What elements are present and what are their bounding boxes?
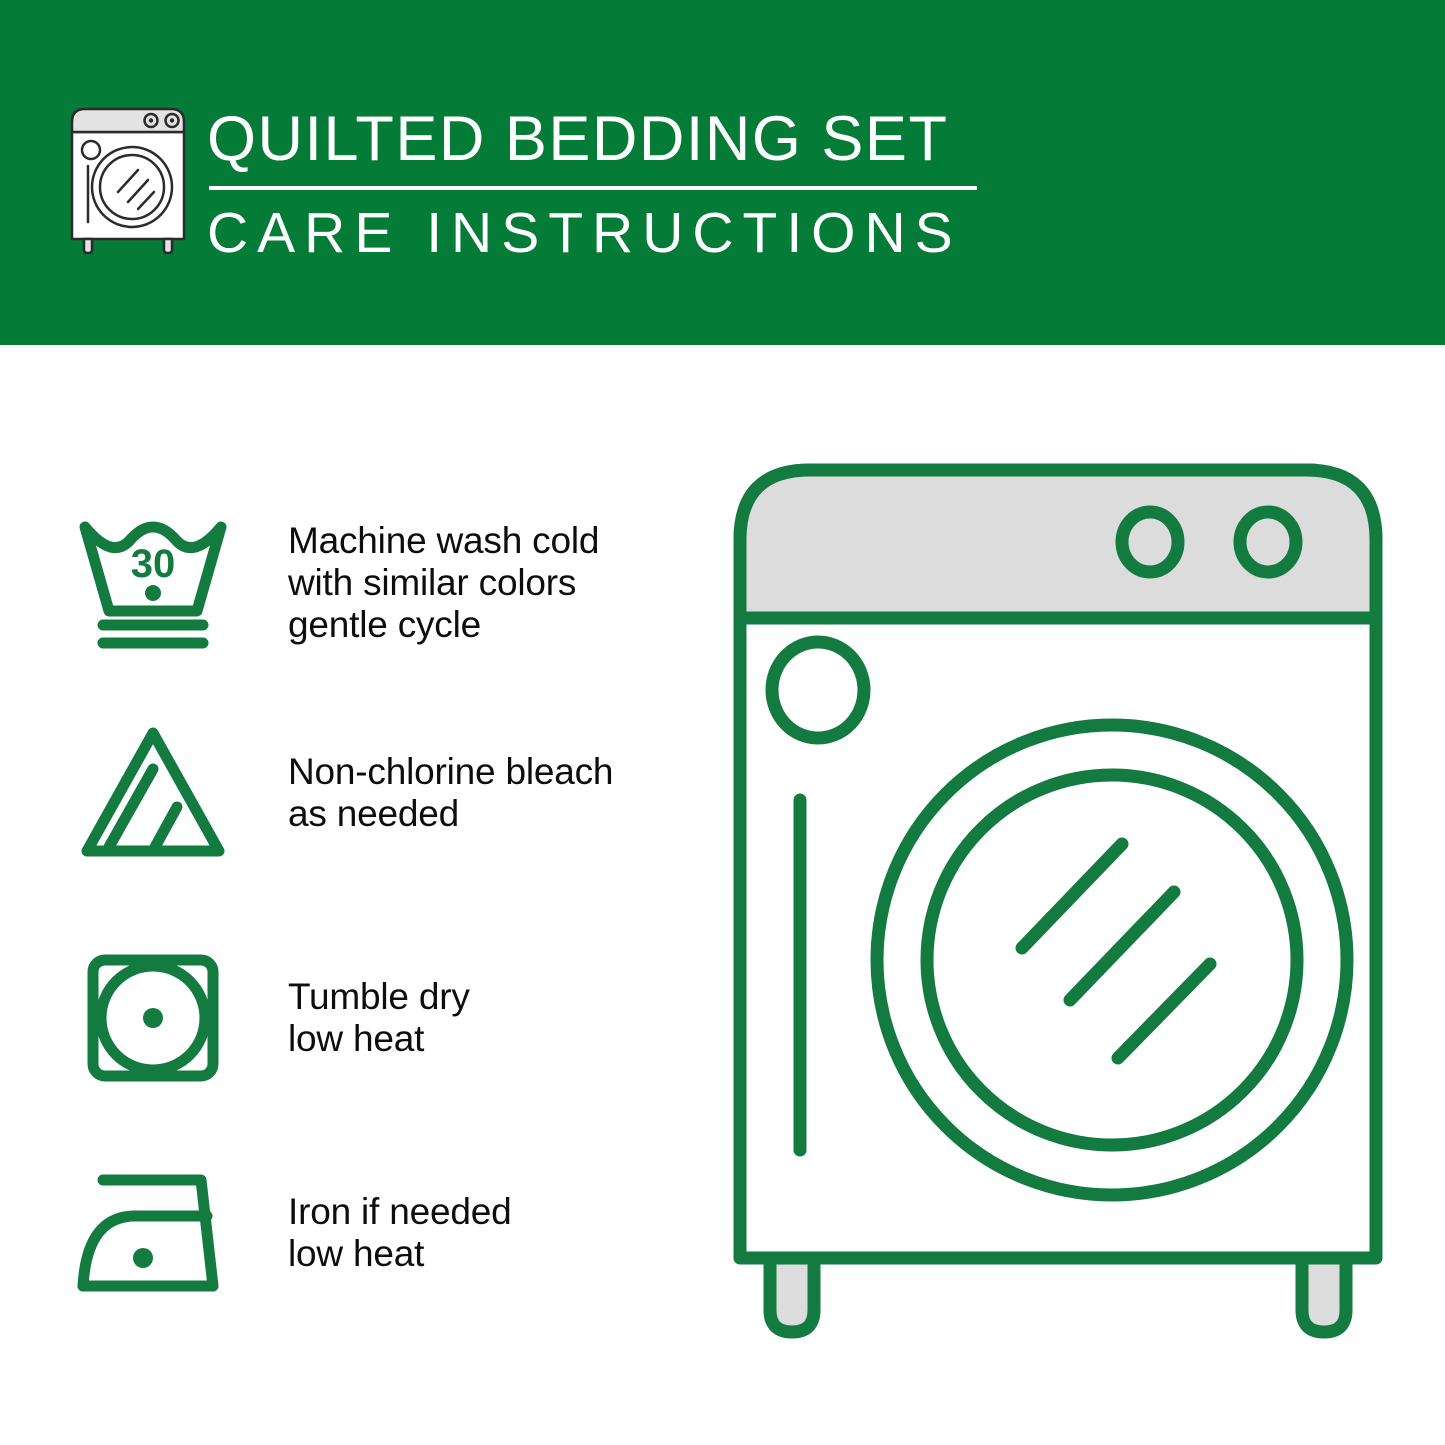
washing-machine-icon xyxy=(66,104,190,254)
care-instructions-list: 30 Machine wash cold with similar colors… xyxy=(0,345,722,1445)
wash-basin-30-symbol: 30 xyxy=(65,513,240,653)
care-label-line: as needed xyxy=(288,793,613,835)
care-label-line: gentle cycle xyxy=(288,604,599,646)
care-label-machine-wash: Machine wash cold with similar colors ge… xyxy=(288,520,599,646)
page-title: QUILTED BEDDING SET xyxy=(207,100,997,178)
header-banner: QUILTED BEDDING SET CARE INSTRUCTIONS xyxy=(0,0,1445,345)
care-label-iron: Iron if needed low heat xyxy=(288,1191,511,1275)
care-row-iron: Iron if needed low heat xyxy=(0,1145,722,1320)
page-subtitle: CARE INSTRUCTIONS xyxy=(207,200,997,266)
care-label-line: Tumble dry xyxy=(288,976,470,1018)
care-label-line: low heat xyxy=(288,1018,470,1060)
iron-symbol xyxy=(65,1168,240,1298)
title-divider xyxy=(209,186,977,190)
care-row-bleach: Non-chlorine bleach as needed xyxy=(0,705,722,880)
care-row-machine-wash: 30 Machine wash cold with similar colors… xyxy=(0,495,722,670)
care-label-line: Machine wash cold xyxy=(288,520,599,562)
care-instructions-page: QUILTED BEDDING SET CARE INSTRUCTIONS 30 xyxy=(0,0,1445,1445)
care-label-tumble-dry: Tumble dry low heat xyxy=(288,976,470,1060)
bleach-triangle-symbol xyxy=(65,723,240,863)
wash-temperature-value: 30 xyxy=(130,542,175,586)
header-text-block: QUILTED BEDDING SET CARE INSTRUCTIONS xyxy=(207,100,997,266)
care-label-line: low heat xyxy=(288,1233,511,1275)
care-label-line: Iron if needed xyxy=(288,1191,511,1233)
care-label-bleach: Non-chlorine bleach as needed xyxy=(288,751,613,835)
tumble-dry-symbol xyxy=(65,948,240,1088)
care-label-line: Non-chlorine bleach xyxy=(288,751,613,793)
front-load-washing-machine-illustration xyxy=(722,440,1445,1380)
care-row-tumble-dry: Tumble dry low heat xyxy=(0,930,722,1105)
care-label-line: with similar colors xyxy=(288,562,599,604)
